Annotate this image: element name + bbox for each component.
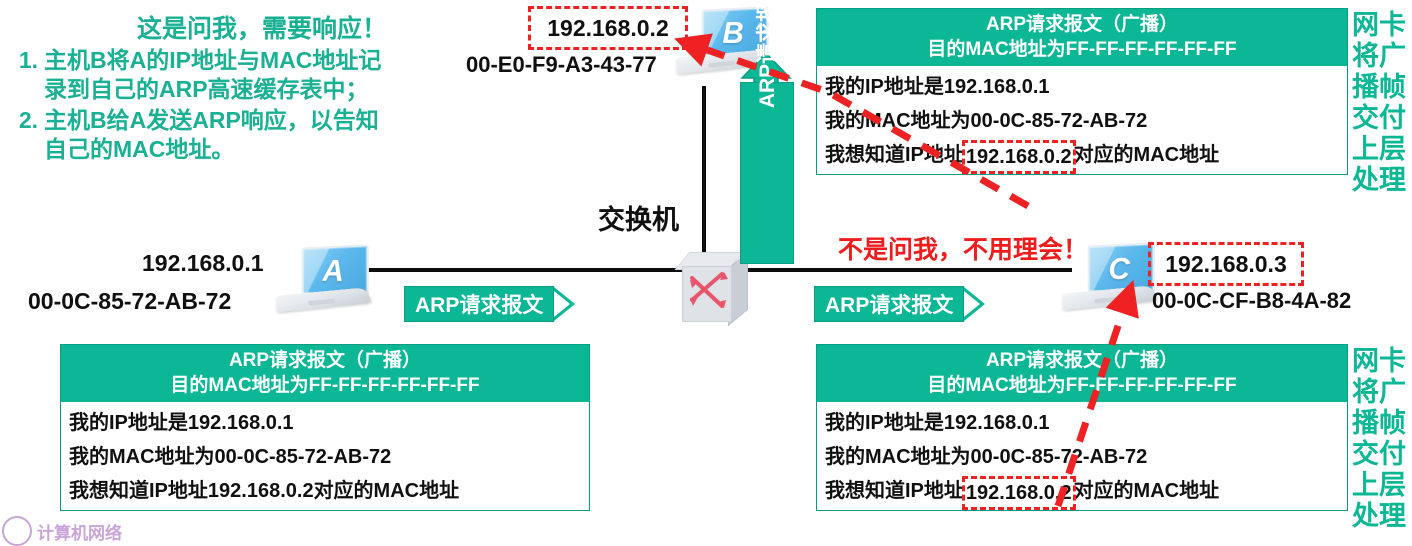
nic-caption-bottom-right: 网卡 将广 播帧 交付 上层 处理 (1352, 346, 1406, 532)
arp-packet-query-suffix: 对应的MAC地址 (314, 480, 460, 502)
arp-packet-query-prefix: 我想知道IP地址 (69, 480, 208, 502)
arp-packet-header-line1: ARP请求报文（广播） (817, 12, 1347, 37)
arp-request-banner-vertical-label: ARP请求报文 (740, 0, 792, 134)
arp-request-banner-right: ARP请求报文 (814, 287, 985, 321)
arp-packet-body: 我的IP地址是192.168.0.1 我的MAC地址为00-0C-85-72-A… (817, 66, 1347, 174)
arp-request-banner-left-label: ARP请求报文 (404, 286, 554, 322)
laptop-a-base (277, 287, 372, 312)
arp-packet-query-suffix: 对应的MAC地址 (1074, 480, 1220, 502)
network-cable-vertical (702, 86, 706, 262)
annotation-item-number: 1. (10, 46, 44, 104)
laptop-c-ip-highlight-box: 192.168.0.3 (1148, 242, 1304, 286)
nic-caption-line: 将广 (1352, 41, 1406, 72)
arp-packet-row-mac: 我的MAC地址为00-0C-85-72-AB-72 (825, 440, 1347, 474)
arp-packet-query-ip-highlight: 192.168.0.2 (962, 140, 1076, 174)
annotation-item-number: 2. (10, 106, 44, 164)
watermark-text: 计算机网络 (37, 519, 122, 544)
network-switch-icon (676, 252, 750, 324)
laptop-c-ip-label: 192.168.0.3 (1165, 251, 1287, 278)
arrow-right-icon (554, 287, 575, 321)
nic-caption-line: 上层 (1352, 470, 1406, 501)
nic-caption-line: 播帧 (1352, 72, 1406, 103)
arp-request-banner-vertical: ARP请求报文 (740, 52, 792, 262)
arp-packet-header-line1: ARP请求报文（广播） (817, 348, 1347, 373)
laptop-b-ip-label: 192.168.0.2 (547, 15, 669, 42)
switch-label: 交换机 (598, 198, 679, 237)
nic-caption-top-right: 网卡 将广 播帧 交付 上层 处理 (1352, 10, 1406, 196)
arp-packet-query-ip: 192.168.0.2 (208, 480, 314, 502)
nic-caption-line: 播帧 (1352, 408, 1406, 439)
laptop-b-mac-label: 00-E0-F9-A3-43-77 (466, 52, 657, 78)
annotation-line: 自己的MAC地址。 (44, 135, 480, 164)
nic-caption-line: 交付 (1352, 439, 1406, 470)
annotation-line: 主机B将A的IP地址与MAC地址记 (44, 46, 480, 75)
arp-packet-query-suffix: 对应的MAC地址 (1074, 144, 1220, 166)
laptop-a-touchpad (308, 299, 335, 306)
watermark: 计算机网络 (2, 516, 172, 546)
annotation-block: 这是问我，需要响应！ 1. 主机B将A的IP地址与MAC地址记 录到自己的ARP… (10, 14, 480, 164)
arp-packet-header: ARP请求报文（广播） 目的MAC地址为FF-FF-FF-FF-FF-FF (817, 345, 1347, 402)
annotation-item-text: 主机B将A的IP地址与MAC地址记 录到自己的ARP高速缓存表中； (44, 46, 480, 104)
arp-packet-row-ip: 我的IP地址是192.168.0.1 (825, 70, 1347, 104)
laptop-a: A (278, 246, 374, 314)
arp-packet-row-mac: 我的MAC地址为00-0C-85-72-AB-72 (69, 440, 589, 474)
arp-packet-row-query: 我想知道IP地址192.168.0.2对应的MAC地址 (825, 138, 1347, 172)
annotation-line: 录到自己的ARP高速缓存表中； (44, 75, 480, 104)
laptop-b-ip-highlight-box: 192.168.0.2 (528, 6, 688, 50)
arp-packet-header: ARP请求报文（广播） 目的MAC地址为FF-FF-FF-FF-FF-FF (817, 9, 1347, 66)
laptop-c-base (1063, 285, 1158, 310)
nic-caption-line: 处理 (1352, 501, 1406, 532)
laptop-a-mac-label: 00-0C-85-72-AB-72 (28, 288, 231, 315)
arrow-right-icon (964, 287, 985, 321)
arp-packet-header-line1: ARP请求报文（广播） (61, 348, 589, 373)
arp-packet-bottom-left: ARP请求报文（广播） 目的MAC地址为FF-FF-FF-FF-FF-FF 我的… (60, 344, 590, 511)
laptop-a-ip-label: 192.168.0.1 (142, 250, 264, 277)
nic-caption-line: 将广 (1352, 377, 1406, 408)
annotation-title: 这是问我，需要响应！ (10, 14, 480, 44)
arp-packet-row-query: 我想知道IP地址192.168.0.2对应的MAC地址 (825, 474, 1347, 508)
arp-packet-row-mac: 我的MAC地址为00-0C-85-72-AB-72 (825, 104, 1347, 138)
arp-request-banner-right-label: ARP请求报文 (814, 286, 964, 322)
annotation-line: 主机B给A发送ARP响应，以告知 (44, 106, 480, 135)
arp-packet-query-prefix: 我想知道IP地址 (825, 144, 964, 166)
arp-request-banner-left: ARP请求报文 (404, 287, 575, 321)
annotation-item-text: 主机B给A发送ARP响应，以告知 自己的MAC地址。 (44, 106, 480, 164)
watermark-circle-icon (2, 516, 32, 546)
arp-packet-header-line2: 目的MAC地址为FF-FF-FF-FF-FF-FF (817, 37, 1347, 62)
arp-packet-body: 我的IP地址是192.168.0.1 我的MAC地址为00-0C-85-72-A… (817, 402, 1347, 510)
laptop-b-touchpad (708, 61, 735, 68)
arp-packet-body: 我的IP地址是192.168.0.1 我的MAC地址为00-0C-85-72-A… (61, 402, 589, 510)
arp-packet-row-ip: 我的IP地址是192.168.0.1 (825, 406, 1347, 440)
annotation-item: 1. 主机B将A的IP地址与MAC地址记 录到自己的ARP高速缓存表中； (10, 46, 480, 104)
nic-caption-line: 网卡 (1352, 346, 1406, 377)
warning-text: 不是问我，不用理会！ (838, 230, 1088, 266)
laptop-c-mac-label: 00-0C-CF-B8-4A-82 (1152, 288, 1351, 314)
arp-packet-top-right: ARP请求报文（广播） 目的MAC地址为FF-FF-FF-FF-FF-FF 我的… (816, 8, 1348, 175)
arp-packet-bottom-right: ARP请求报文（广播） 目的MAC地址为FF-FF-FF-FF-FF-FF 我的… (816, 344, 1348, 511)
network-cable-left (366, 268, 686, 272)
nic-caption-line: 处理 (1352, 165, 1406, 196)
arp-packet-query-ip-highlight: 192.168.0.2 (962, 476, 1076, 510)
nic-caption-line: 交付 (1352, 103, 1406, 134)
arp-packet-query-prefix: 我想知道IP地址 (825, 480, 964, 502)
nic-caption-line: 上层 (1352, 134, 1406, 165)
laptop-c-touchpad (1094, 297, 1121, 304)
arp-packet-row-ip: 我的IP地址是192.168.0.1 (69, 406, 589, 440)
arp-packet-header-line2: 目的MAC地址为FF-FF-FF-FF-FF-FF (817, 373, 1347, 398)
arp-packet-row-query: 我想知道IP地址192.168.0.2对应的MAC地址 (69, 474, 589, 508)
arp-packet-header: ARP请求报文（广播） 目的MAC地址为FF-FF-FF-FF-FF-FF (61, 345, 589, 402)
arp-packet-header-line2: 目的MAC地址为FF-FF-FF-FF-FF-FF (61, 373, 589, 398)
nic-caption-line: 网卡 (1352, 10, 1406, 41)
switch-arrows-icon (676, 252, 750, 324)
annotation-item: 2. 主机B给A发送ARP响应，以告知 自己的MAC地址。 (10, 106, 480, 164)
network-cable-right (742, 268, 1072, 272)
